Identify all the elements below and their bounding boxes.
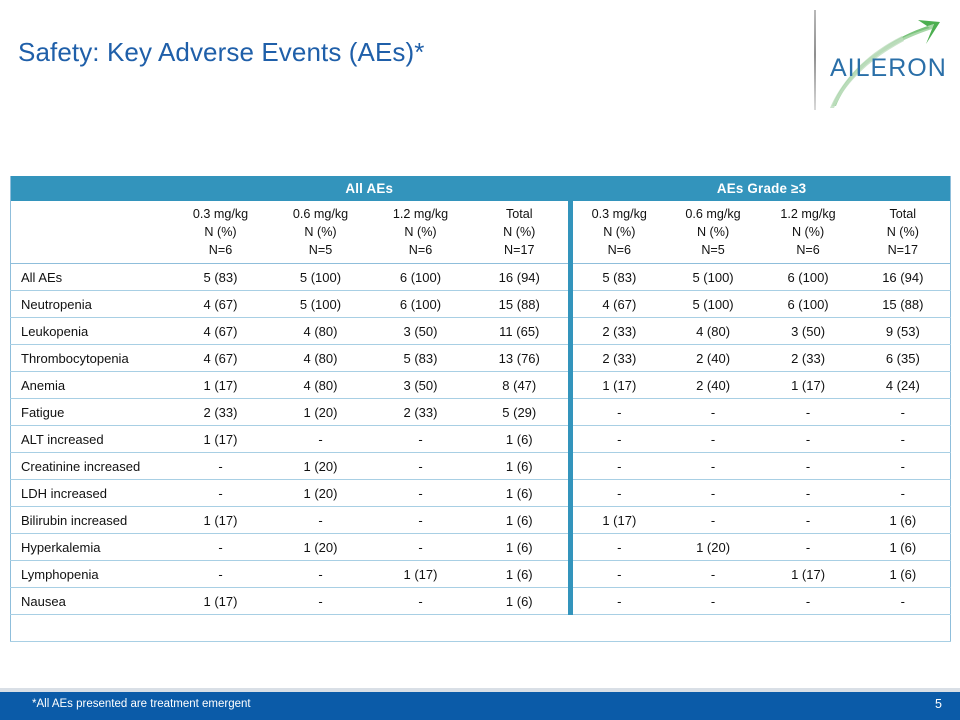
group-header-grade3: AEs Grade ≥3 xyxy=(571,176,951,201)
cell: 1 (17) xyxy=(171,372,271,399)
row-label: Nausea xyxy=(11,588,171,615)
cell: 1 (17) xyxy=(171,588,271,615)
cell: 2 (40) xyxy=(666,372,761,399)
cell: 3 (50) xyxy=(371,372,471,399)
cell: - xyxy=(171,534,271,561)
table-row: Lymphopenia - - 1 (17) 1 (6) - - 1 (17) … xyxy=(11,561,951,588)
cell: 1 (6) xyxy=(471,480,571,507)
spacer-cell xyxy=(371,615,471,642)
cell: 6 (35) xyxy=(856,345,951,372)
cell: - xyxy=(666,507,761,534)
table-row: LDH increased - 1 (20) - 1 (6) - - - - xyxy=(11,480,951,507)
column-header-6: 1.2 mg/kg N (%) N=6 xyxy=(761,201,856,264)
column-header-6-n: N=6 xyxy=(761,241,856,259)
cell: 2 (33) xyxy=(761,345,856,372)
cell: - xyxy=(761,588,856,615)
cell: 5 (83) xyxy=(371,345,471,372)
column-header-3-n: N=17 xyxy=(471,241,569,259)
cell: 6 (100) xyxy=(761,291,856,318)
cell: - xyxy=(856,480,951,507)
cell: - xyxy=(666,426,761,453)
cell: 5 (100) xyxy=(271,291,371,318)
spacer-cell xyxy=(11,615,171,642)
spacer-cell xyxy=(471,615,571,642)
cell: 1 (20) xyxy=(271,399,371,426)
cell: 1 (17) xyxy=(761,372,856,399)
cell: - xyxy=(761,399,856,426)
cell: 11 (65) xyxy=(471,318,571,345)
column-header-4-unit: N (%) xyxy=(573,223,666,241)
row-label: Lymphopenia xyxy=(11,561,171,588)
cell: 1 (6) xyxy=(471,507,571,534)
table-row: All AEs 5 (83) 5 (100) 6 (100) 16 (94) 5… xyxy=(11,264,951,291)
table-bottom-spacer-row xyxy=(11,615,951,642)
column-header-2-unit: N (%) xyxy=(371,223,471,241)
cell: 5 (29) xyxy=(471,399,571,426)
cell: 1 (17) xyxy=(571,372,666,399)
cell: 1 (6) xyxy=(471,561,571,588)
cell: - xyxy=(171,561,271,588)
cell: 8 (47) xyxy=(471,372,571,399)
table-row: Bilirubin increased 1 (17) - - 1 (6) 1 (… xyxy=(11,507,951,534)
cell: - xyxy=(761,534,856,561)
spacer-cell xyxy=(571,615,666,642)
row-label: ALT increased xyxy=(11,426,171,453)
cell: 1 (17) xyxy=(171,507,271,534)
cell: 4 (80) xyxy=(271,372,371,399)
column-header-5-unit: N (%) xyxy=(666,223,761,241)
column-header-7: Total N (%) N=17 xyxy=(856,201,951,264)
cell: - xyxy=(571,480,666,507)
column-header-row-label xyxy=(11,201,171,264)
cell: - xyxy=(571,453,666,480)
cell: - xyxy=(271,426,371,453)
spacer-cell xyxy=(856,615,951,642)
slide-canvas: Safety: Key Adverse Events (AEs)* AILERO… xyxy=(0,0,960,720)
column-header-7-n: N=17 xyxy=(856,241,951,259)
cell: 9 (53) xyxy=(856,318,951,345)
cell: 4 (80) xyxy=(666,318,761,345)
column-header-0-n: N=6 xyxy=(171,241,271,259)
column-header-4-n: N=6 xyxy=(573,241,666,259)
cell: - xyxy=(371,453,471,480)
cell: - xyxy=(666,399,761,426)
column-header-6-unit: N (%) xyxy=(761,223,856,241)
cell: 2 (33) xyxy=(571,318,666,345)
cell: - xyxy=(761,480,856,507)
cell: - xyxy=(856,453,951,480)
row-label: Leukopenia xyxy=(11,318,171,345)
company-logo: AILERON xyxy=(804,8,952,112)
cell: - xyxy=(761,426,856,453)
cell: - xyxy=(856,426,951,453)
cell: 1 (6) xyxy=(471,426,571,453)
cell: - xyxy=(761,507,856,534)
row-label: Fatigue xyxy=(11,399,171,426)
cell: 1 (6) xyxy=(471,588,571,615)
column-header-3-dose: Total xyxy=(471,205,569,223)
cell: - xyxy=(571,561,666,588)
cell: 1 (17) xyxy=(371,561,471,588)
cell: 4 (67) xyxy=(571,291,666,318)
column-header-7-unit: N (%) xyxy=(856,223,951,241)
table-row: Nausea 1 (17) - - 1 (6) - - - - xyxy=(11,588,951,615)
cell: 2 (33) xyxy=(171,399,271,426)
cell: - xyxy=(371,480,471,507)
group-header-all-aes: All AEs xyxy=(171,176,571,201)
cell: - xyxy=(666,480,761,507)
table-row: Leukopenia 4 (67) 4 (80) 3 (50) 11 (65) … xyxy=(11,318,951,345)
table-row: Thrombocytopenia 4 (67) 4 (80) 5 (83) 13… xyxy=(11,345,951,372)
cell: 1 (6) xyxy=(856,534,951,561)
column-header-1-unit: N (%) xyxy=(271,223,371,241)
group-header-spacer xyxy=(11,176,171,201)
cell: - xyxy=(666,453,761,480)
table-row: Hyperkalemia - 1 (20) - 1 (6) - 1 (20) -… xyxy=(11,534,951,561)
adverse-events-table: All AEs AEs Grade ≥3 0.3 mg/kg N (%) N=6… xyxy=(10,176,951,642)
row-label: All AEs xyxy=(11,264,171,291)
cell: - xyxy=(666,588,761,615)
page-title: Safety: Key Adverse Events (AEs)* xyxy=(18,36,778,68)
cell: 1 (17) xyxy=(761,561,856,588)
column-header-2-n: N=6 xyxy=(371,241,471,259)
cell: 5 (83) xyxy=(171,264,271,291)
cell: 16 (94) xyxy=(856,264,951,291)
column-header-7-dose: Total xyxy=(856,205,951,223)
cell: 4 (67) xyxy=(171,318,271,345)
cell: 6 (100) xyxy=(371,291,471,318)
table-body: All AEs 5 (83) 5 (100) 6 (100) 16 (94) 5… xyxy=(11,264,951,642)
cell: - xyxy=(571,534,666,561)
column-header-0: 0.3 mg/kg N (%) N=6 xyxy=(171,201,271,264)
cell: 15 (88) xyxy=(856,291,951,318)
column-header-3-unit: N (%) xyxy=(471,223,569,241)
cell: 5 (83) xyxy=(571,264,666,291)
title-area: Safety: Key Adverse Events (AEs)* xyxy=(18,36,778,92)
cell: 1 (6) xyxy=(471,534,571,561)
row-label: Bilirubin increased xyxy=(11,507,171,534)
spacer-cell xyxy=(271,615,371,642)
table-row: Anemia 1 (17) 4 (80) 3 (50) 8 (47) 1 (17… xyxy=(11,372,951,399)
cell: 6 (100) xyxy=(371,264,471,291)
cell: - xyxy=(371,507,471,534)
column-header-6-dose: 1.2 mg/kg xyxy=(761,205,856,223)
column-header-3: Total N (%) N=17 xyxy=(471,201,571,264)
page-number: 5 xyxy=(935,697,942,711)
spacer-cell xyxy=(171,615,271,642)
cell: 2 (33) xyxy=(571,345,666,372)
cell: - xyxy=(171,480,271,507)
column-header-0-unit: N (%) xyxy=(171,223,271,241)
group-header-row: All AEs AEs Grade ≥3 xyxy=(11,176,951,201)
cell: 1 (20) xyxy=(666,534,761,561)
cell: 16 (94) xyxy=(471,264,571,291)
cell: 3 (50) xyxy=(761,318,856,345)
cell: - xyxy=(271,507,371,534)
column-header-5-dose: 0.6 mg/kg xyxy=(666,205,761,223)
column-header-4: 0.3 mg/kg N (%) N=6 xyxy=(571,201,666,264)
cell: - xyxy=(371,426,471,453)
cell: 2 (40) xyxy=(666,345,761,372)
column-header-4-dose: 0.3 mg/kg xyxy=(573,205,666,223)
row-label: LDH increased xyxy=(11,480,171,507)
cell: 1 (17) xyxy=(171,426,271,453)
cell: 13 (76) xyxy=(471,345,571,372)
cell: 4 (80) xyxy=(271,318,371,345)
table-row: Neutropenia 4 (67) 5 (100) 6 (100) 15 (8… xyxy=(11,291,951,318)
column-header-1-n: N=5 xyxy=(271,241,371,259)
spacer-cell xyxy=(761,615,856,642)
cell: - xyxy=(271,561,371,588)
column-header-2-dose: 1.2 mg/kg xyxy=(371,205,471,223)
logo-wordmark: AILERON xyxy=(830,54,947,83)
column-header-1: 0.6 mg/kg N (%) N=5 xyxy=(271,201,371,264)
row-label: Thrombocytopenia xyxy=(11,345,171,372)
cell: - xyxy=(371,588,471,615)
column-header-row: 0.3 mg/kg N (%) N=6 0.6 mg/kg N (%) N=5 … xyxy=(11,201,951,264)
footer-bar: *All AEs presented are treatment emergen… xyxy=(0,692,960,720)
column-header-5-n: N=5 xyxy=(666,241,761,259)
table-row: Creatinine increased - 1 (20) - 1 (6) - … xyxy=(11,453,951,480)
column-header-1-dose: 0.6 mg/kg xyxy=(271,205,371,223)
cell: 5 (100) xyxy=(271,264,371,291)
spacer-cell xyxy=(666,615,761,642)
cell: 1 (20) xyxy=(271,534,371,561)
cell: - xyxy=(571,426,666,453)
column-header-5: 0.6 mg/kg N (%) N=5 xyxy=(666,201,761,264)
cell: - xyxy=(856,399,951,426)
cell: - xyxy=(761,453,856,480)
cell: 1 (17) xyxy=(571,507,666,534)
cell: 1 (20) xyxy=(271,453,371,480)
cell: - xyxy=(856,588,951,615)
cell: 2 (33) xyxy=(371,399,471,426)
footnote-text: *All AEs presented are treatment emergen… xyxy=(32,698,251,710)
cell: 3 (50) xyxy=(371,318,471,345)
cell: 1 (20) xyxy=(271,480,371,507)
cell: 1 (6) xyxy=(471,453,571,480)
cell: 5 (100) xyxy=(666,291,761,318)
row-label: Hyperkalemia xyxy=(11,534,171,561)
table-head: All AEs AEs Grade ≥3 0.3 mg/kg N (%) N=6… xyxy=(11,176,951,264)
cell: - xyxy=(171,453,271,480)
cell: 5 (100) xyxy=(666,264,761,291)
logo-divider-rule xyxy=(814,10,816,110)
cell: - xyxy=(571,399,666,426)
cell: 1 (6) xyxy=(856,561,951,588)
cell: - xyxy=(371,534,471,561)
table-row: Fatigue 2 (33) 1 (20) 2 (33) 5 (29) - - … xyxy=(11,399,951,426)
cell: 15 (88) xyxy=(471,291,571,318)
column-header-2: 1.2 mg/kg N (%) N=6 xyxy=(371,201,471,264)
row-label: Neutropenia xyxy=(11,291,171,318)
row-label: Creatinine increased xyxy=(11,453,171,480)
column-header-0-dose: 0.3 mg/kg xyxy=(171,205,271,223)
cell: - xyxy=(571,588,666,615)
cell: 4 (67) xyxy=(171,291,271,318)
cell: 6 (100) xyxy=(761,264,856,291)
cell: - xyxy=(271,588,371,615)
row-label: Anemia xyxy=(11,372,171,399)
table-row: ALT increased 1 (17) - - 1 (6) - - - - xyxy=(11,426,951,453)
cell: 1 (6) xyxy=(856,507,951,534)
cell: 4 (24) xyxy=(856,372,951,399)
cell: 4 (80) xyxy=(271,345,371,372)
cell: 4 (67) xyxy=(171,345,271,372)
cell: - xyxy=(666,561,761,588)
